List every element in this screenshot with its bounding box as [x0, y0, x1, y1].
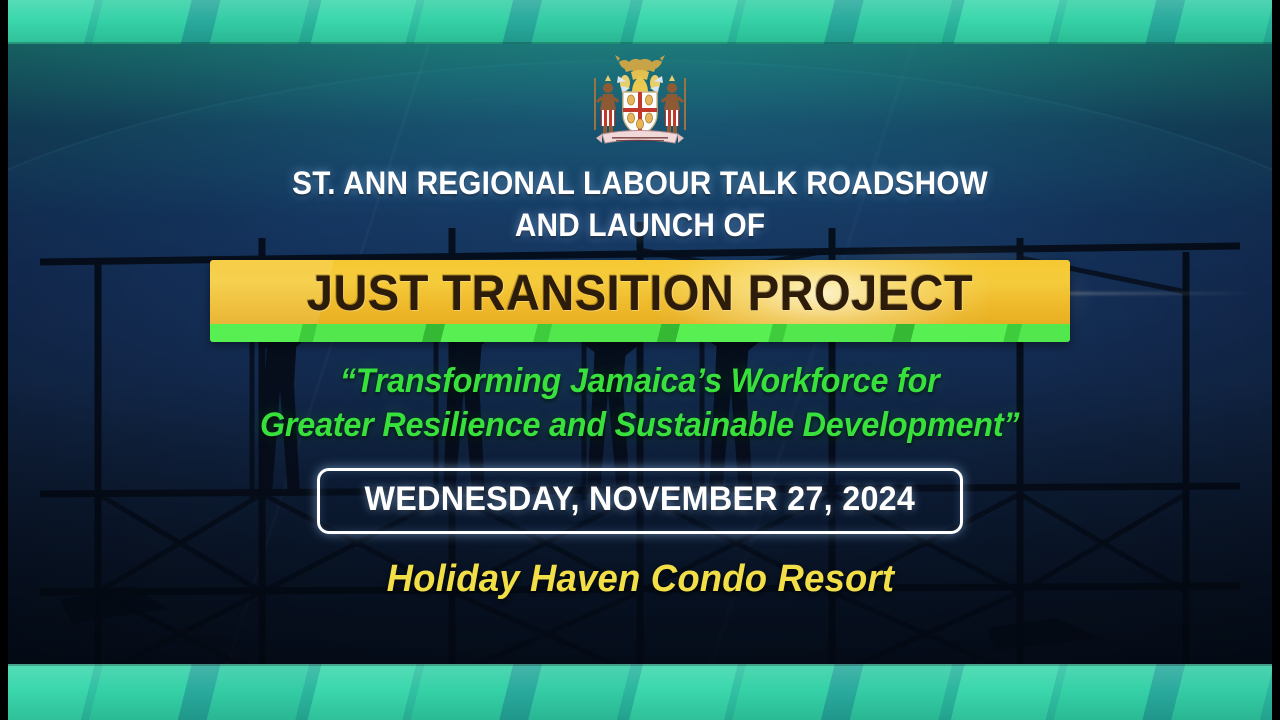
event-date-label: WEDNESDAY, NOVEMBER 27, 2024 [365, 480, 916, 519]
letterbox-left-bar [0, 0, 8, 720]
jamaica-coat-of-arms-icon [588, 52, 692, 148]
event-venue-label: Holiday Haven Condo Resort [386, 558, 894, 601]
project-banner: JUST TRANSITION PROJECT [210, 260, 1070, 342]
page-title: ST. ANN REGIONAL LABOUR TALK ROADSHOW AN… [292, 162, 988, 246]
title-card: ST. ANN REGIONAL LABOUR TALK ROADSHOW AN… [0, 0, 1280, 720]
event-date-box: WEDNESDAY, NOVEMBER 27, 2024 [317, 468, 963, 534]
card-content: ST. ANN REGIONAL LABOUR TALK ROADSHOW AN… [0, 0, 1280, 720]
project-banner-label: JUST TRANSITION PROJECT [236, 260, 1044, 342]
event-tagline: “Transforming Jamaica’s Workforce for Gr… [260, 360, 1019, 447]
letterbox-right-bar [1272, 0, 1280, 720]
